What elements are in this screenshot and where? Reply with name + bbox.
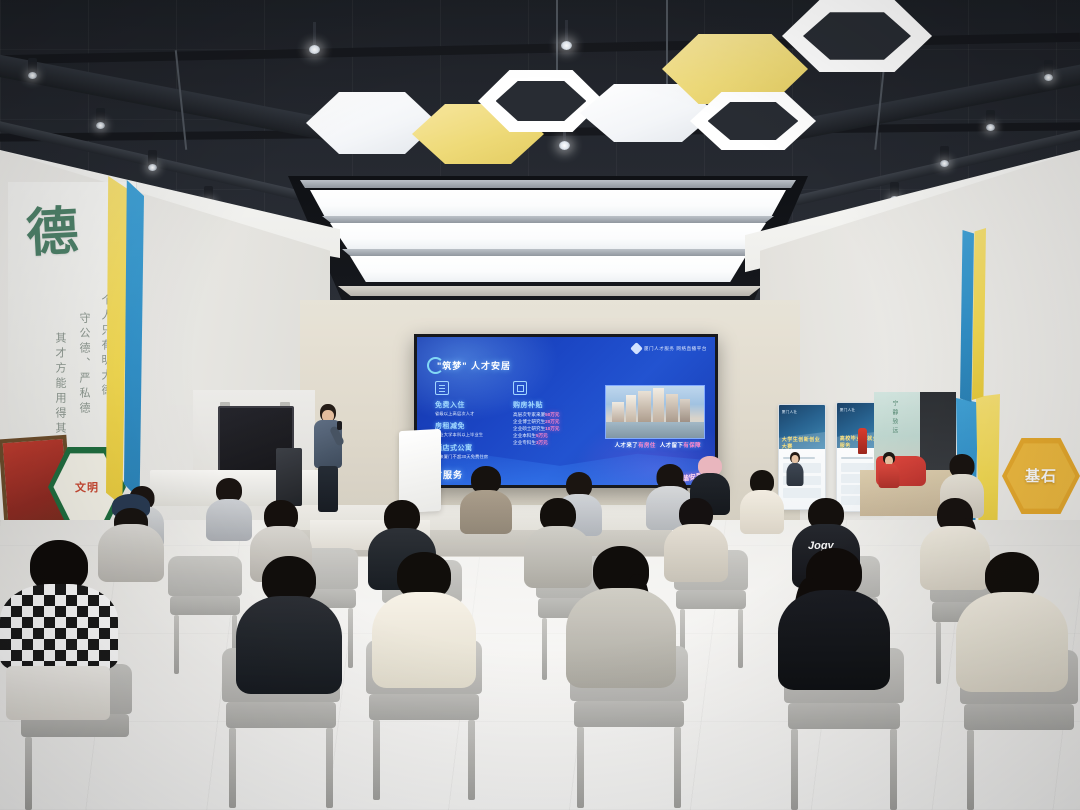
- calligraphy-quote-line-2: 守公德、严私德: [76, 312, 92, 430]
- subsidy-amount: 3万元: [536, 440, 548, 445]
- banner-logo-left: 厦门人社: [782, 410, 798, 415]
- photo-building: [653, 388, 664, 422]
- track-spot-light: [96, 108, 105, 125]
- track-spot-light: [940, 146, 949, 163]
- person-legs: [6, 666, 110, 720]
- audience-member: [460, 466, 512, 532]
- panel-rim: [338, 286, 762, 296]
- track-spot-light: [986, 110, 995, 127]
- chair-leg: [791, 729, 798, 810]
- brand-mark-icon: [630, 342, 643, 355]
- ceiling-light-panel-3: [350, 256, 746, 282]
- photo-caption-right-tag: 有保障: [683, 443, 701, 449]
- subsidy-amount: 5万元: [536, 433, 548, 438]
- track-spot-light: [1044, 60, 1053, 77]
- hex-sign-green-label: 文明: [75, 479, 99, 495]
- speaker-podium: [276, 448, 302, 506]
- calligraphy-character: 德: [24, 189, 80, 267]
- chair-seat: [964, 704, 1075, 730]
- item-heading: 酒店式公寓: [435, 443, 503, 453]
- audience-member-checkerboard: [0, 540, 118, 720]
- panel-rim: [300, 180, 796, 188]
- chair-leg: [577, 727, 584, 808]
- chair-leg: [967, 730, 974, 810]
- photo-caption: 人才来了有房住 人才留下有保障: [615, 441, 701, 449]
- subsidy-label: 企业博士研究生: [513, 419, 545, 424]
- chair-leg: [348, 608, 353, 668]
- photo-caption-left: 人才来了: [615, 443, 639, 449]
- pendant-spot-light: [565, 20, 568, 44]
- chair-seat: [676, 590, 746, 609]
- person-body: [460, 490, 512, 534]
- person-body: [956, 592, 1068, 692]
- person-body: [879, 464, 900, 488]
- chair-leg: [542, 618, 547, 680]
- chair-leg: [326, 728, 333, 808]
- person-body: [787, 463, 804, 486]
- subsidy-row: 企业本科生5万元: [513, 432, 595, 439]
- residential-building-photo: [605, 385, 705, 439]
- presenter: [311, 404, 345, 514]
- fire-extinguisher: [858, 428, 867, 454]
- chair-seat: [574, 701, 685, 727]
- photo-building: [612, 402, 624, 423]
- audience-member-front-row: [372, 552, 476, 684]
- brand-logo-text: 厦门人才服务 网络直播平台: [644, 346, 707, 352]
- panel-rim: [322, 216, 774, 223]
- banner-logo-right: 厦门人社: [840, 408, 856, 413]
- lecture-room-photo: 德 个人只有明大德 守公德、严私德 其才方能用得其所 文明 厦门人社 大学生创新…: [0, 0, 1080, 810]
- person-face: [792, 455, 799, 463]
- photo-building: [626, 395, 636, 422]
- subsidy-row: 高层次专家来厦50万元: [513, 411, 595, 418]
- pendant-spot-light: [313, 22, 316, 48]
- hex-ring-opening: [496, 81, 587, 122]
- document-icon: [435, 381, 449, 395]
- microphone-icon: [337, 421, 342, 430]
- chair-seat: [170, 596, 240, 615]
- standing-staff: [786, 452, 804, 486]
- subsidy-label: 企业本科生: [513, 433, 536, 438]
- hex-ring-opening: [708, 102, 799, 140]
- standing-visitor: [878, 452, 900, 488]
- ceiling-light-panel-1: [310, 190, 786, 216]
- person-body: [206, 499, 252, 541]
- item-detail: 新来厦门不超30天免费住房: [435, 454, 503, 459]
- person-body: [740, 490, 784, 534]
- audience-member-front-row: [236, 556, 342, 692]
- subsidy-row: 企业专科生3万元: [513, 439, 595, 446]
- house-icon: [513, 381, 527, 395]
- banner-rule: [841, 457, 873, 459]
- track-spot-light: [28, 58, 37, 75]
- person-body: [566, 588, 676, 688]
- chair-leg: [25, 737, 32, 810]
- subsidy-row: 企业硕士研究生10万元: [513, 425, 595, 432]
- banner-body-block: [783, 488, 822, 497]
- chair-leg: [674, 727, 681, 808]
- item-heading: 免费入住: [435, 400, 503, 410]
- screen-brand-logo: 厦门人才服务 网络直播平台: [632, 344, 707, 353]
- screen-column-purchase-subsidy: 购房补贴 高层次专家来厦50万元 企业博士研究生20万元 企业硕士研究生10万元…: [513, 381, 595, 447]
- subsidy-label: 高层次专家来厦: [513, 412, 545, 417]
- screen-headline: "筑梦" 人才安居: [437, 359, 511, 372]
- chair-leg: [468, 720, 475, 800]
- chair-leg: [373, 720, 380, 800]
- screen-column-free-housing: 免费入住 省级以上高层次人才 房租减免 企业大学本科以上毕业生 酒店式公寓 新来…: [435, 381, 503, 459]
- item-detail: 企业大学本科以上毕业生: [435, 432, 503, 437]
- subsidy-amount: 20万元: [545, 419, 559, 424]
- photo-building: [638, 391, 651, 422]
- photo-building: [680, 399, 690, 422]
- panel-rim: [342, 249, 754, 256]
- screen-display-area: 厦门人才服务 网络直播平台 "筑梦" 人才安居 免费入住 省级以上高层次人才 房…: [417, 337, 715, 485]
- chair-leg: [229, 728, 236, 808]
- audience-member-front-row: [956, 552, 1068, 690]
- banner-title-left: 大学生创新创业大赛: [782, 436, 825, 450]
- person-body: [778, 590, 890, 690]
- subsidy-label: 企业专科生: [513, 440, 536, 445]
- audience-member: [206, 478, 252, 540]
- audience-member-front-row: [778, 548, 890, 688]
- photo-building: [666, 394, 678, 423]
- chair-leg: [738, 609, 743, 668]
- chair-leg: [936, 622, 941, 684]
- ceiling-cable: [666, 0, 668, 90]
- track-spot-light: [148, 150, 157, 167]
- subsidy-heading: 购房补贴: [513, 400, 595, 410]
- audience-member: [740, 470, 784, 532]
- audience-member-front-row: [566, 546, 676, 686]
- hex-sign-gold-label: 基石: [1025, 465, 1057, 486]
- subsidy-amount: 50万元: [545, 412, 559, 417]
- ceiling-light-panel-2: [330, 223, 766, 249]
- item-detail: 省级以上高层次人才: [435, 411, 503, 416]
- subsidy-label: 企业硕士研究生: [513, 426, 545, 431]
- photo-road: [606, 422, 704, 438]
- chair-seat: [369, 694, 478, 720]
- chair-back: [168, 556, 242, 596]
- hex-ring-opening: [803, 12, 911, 60]
- person-body: [0, 584, 118, 670]
- chair-seat: [788, 703, 901, 729]
- item-heading: 房租减免: [435, 421, 503, 431]
- chair-leg: [174, 615, 179, 674]
- hex-sign-gold-inner: 基石: [1007, 443, 1076, 508]
- person-body: [236, 596, 342, 694]
- chair-leg: [890, 729, 897, 810]
- presenter-legs: [318, 466, 338, 512]
- chair-seat: [226, 702, 337, 728]
- subsidy-row: 企业博士研究生20万元: [513, 418, 595, 425]
- subsidy-amount: 10万元: [545, 426, 559, 431]
- photo-caption-right: 人才留下: [660, 443, 684, 449]
- pendant-spot-light: [563, 130, 566, 144]
- person-body: [372, 592, 476, 688]
- photo-caption-left-tag: 有房住: [638, 443, 656, 449]
